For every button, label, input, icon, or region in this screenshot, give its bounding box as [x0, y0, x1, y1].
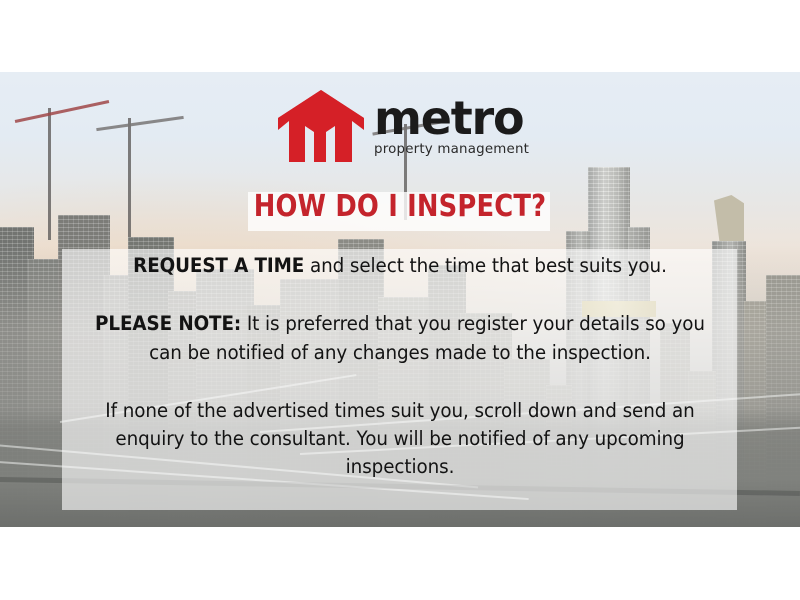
tagline-text: property management [374, 142, 529, 157]
wordmark-text: metro [374, 97, 529, 139]
paragraph-enquiry: If none of the advertised times suit you… [80, 397, 719, 482]
metro-wordmark: metro property management [374, 95, 529, 157]
paragraph-1-lead: REQUEST A TIME [133, 254, 304, 277]
paragraph-spacer [60, 367, 740, 397]
crane-mast-left [48, 108, 51, 240]
body-copy: REQUEST A TIME and select the time that … [60, 252, 740, 482]
paragraph-2-lead: PLEASE NOTE: [95, 312, 241, 335]
page-title: HOW DO I INSPECT? [56, 189, 744, 224]
metro-house-m-logo-icon [278, 88, 364, 164]
paragraph-please-note: PLEASE NOTE: It is preferred that you re… [80, 310, 719, 367]
paragraph-1-rest: and select the time that best suits you. [304, 254, 667, 277]
paragraph-request-a-time: REQUEST A TIME and select the time that … [80, 252, 719, 280]
paragraph-3-rest: If none of the advertised times suit you… [105, 399, 694, 479]
paragraph-spacer [60, 280, 740, 310]
slide-canvas: metro property management HOW DO I INSPE… [0, 0, 800, 600]
metro-logo: metro property management [278, 84, 530, 168]
